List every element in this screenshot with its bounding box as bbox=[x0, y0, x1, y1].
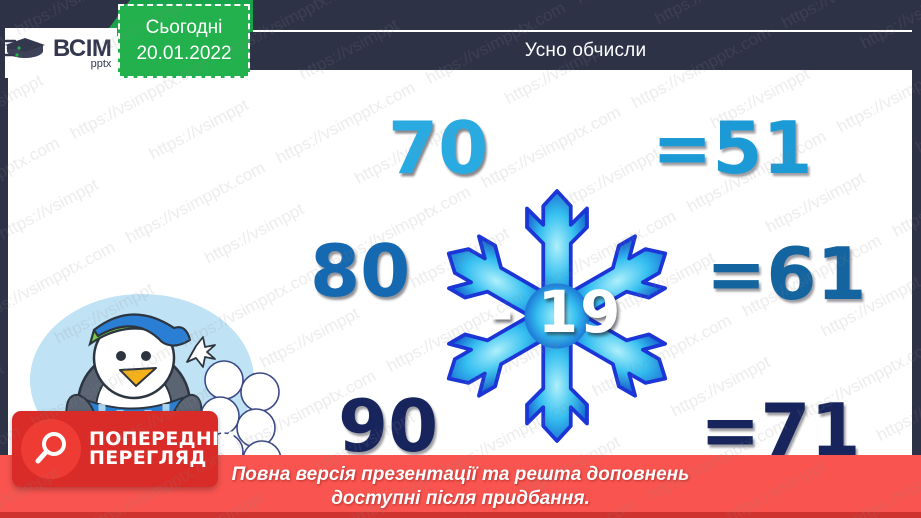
date-badge-label: Сьогодні bbox=[146, 15, 223, 41]
graduation-cap-icon bbox=[5, 34, 49, 73]
presentation-slide: Усно обчисли ВСІМ pptx bbox=[0, 0, 921, 518]
operation-label: - 19 bbox=[476, 278, 636, 346]
minuend-row-1: 70 bbox=[388, 112, 488, 184]
preview-badge-line2: ПЕРЕГЛЯД bbox=[89, 447, 207, 469]
title-bar: Усно обчисли bbox=[250, 32, 921, 70]
result-row-2: =61 bbox=[706, 238, 867, 310]
footer-banner-edge bbox=[0, 512, 921, 518]
footer-banner-line1: Повна версія презентації та решта доповн… bbox=[232, 463, 690, 487]
minuend-row-2: 80 bbox=[310, 235, 410, 307]
date-badge: Сьогодні 20.01.2022 bbox=[118, 4, 250, 78]
preview-badge[interactable]: ПОПЕРЕДНІЙ ПЕРЕГЛЯД bbox=[12, 411, 218, 487]
result-row-1: =51 bbox=[652, 112, 813, 184]
minuend-row-3: 90 bbox=[338, 390, 438, 462]
page-title: Усно обчисли bbox=[525, 40, 647, 62]
brand-logo: ВСІМ pptx bbox=[5, 28, 117, 78]
magnifier-icon bbox=[21, 419, 81, 479]
footer-banner-line2: доступні після придбання. bbox=[331, 487, 590, 511]
date-badge-value: 20.01.2022 bbox=[136, 41, 231, 67]
preview-badge-text: ПОПЕРЕДНІЙ ПЕРЕГЛЯД bbox=[89, 430, 236, 469]
brand-wordmark: ВСІМ pptx bbox=[53, 37, 111, 70]
